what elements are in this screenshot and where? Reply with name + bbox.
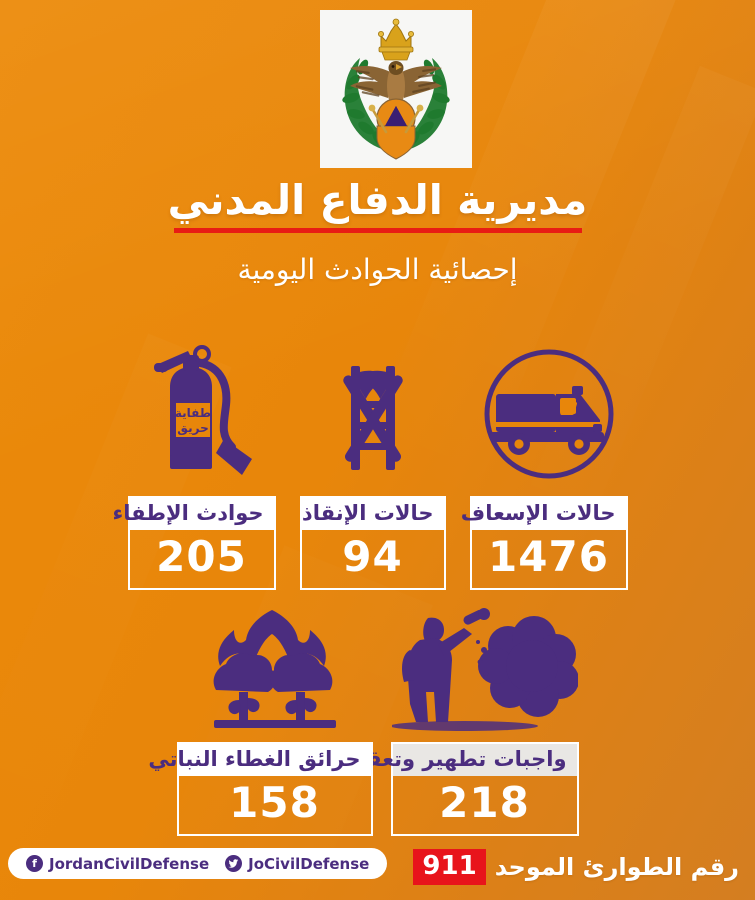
stat-label: حوادث الإطفاء [130, 498, 274, 530]
title-underline [174, 228, 582, 233]
stats-row-secondary: واجبات تطهير وتعقيم 218 [0, 608, 755, 836]
emergency-number-block: رقم الطوارئ الموحد 911 [413, 849, 739, 885]
social-link-facebook[interactable]: f JordanCivilDefense [26, 855, 209, 873]
stats-row-primary: حالات الإسعاف 1476 [0, 338, 755, 590]
jordan-civil-defense-emblem-icon [326, 14, 466, 164]
stat-cell-vegetation: حرائق الغطاء النباتي 158 [177, 608, 373, 836]
facebook-icon: f [26, 855, 43, 872]
stat-box: حوادث الإطفاء 205 [128, 496, 276, 590]
social-links-pill: f JordanCivilDefense JoCivilDefense [8, 848, 387, 879]
facebook-handle: JordanCivilDefense [49, 855, 209, 873]
stat-value: 205 [130, 530, 274, 588]
stat-label: واجبات تطهير وتعقيم [393, 744, 577, 776]
stat-value: 158 [179, 776, 371, 834]
stat-cell-ambulance: حالات الإسعاف 1476 [470, 338, 628, 590]
burning-trees-icon [200, 608, 350, 734]
social-link-twitter[interactable]: JoCivilDefense [225, 855, 369, 873]
infographic-poster: مديرية الدفاع المدني إحصائية الحوادث الي… [0, 0, 755, 900]
stat-label: حالات الإسعاف [472, 498, 626, 530]
crossed-axes-ladder-icon [303, 338, 443, 488]
emergency-label: رقم الطوارئ الموحد [495, 853, 739, 881]
organization-logo-panel [320, 10, 472, 168]
stat-value: 218 [393, 776, 577, 834]
title-block: مديرية الدفاع المدني إحصائية الحوادث الي… [0, 178, 755, 286]
twitter-icon [225, 855, 242, 872]
extinguisher-label-line1: طفاية [174, 406, 210, 420]
stat-cell-disinfection: واجبات تطهير وتعقيم 218 [391, 608, 579, 836]
stat-label: حرائق الغطاء النباتي [179, 744, 371, 776]
stat-box: حالات الإسعاف 1476 [470, 496, 628, 590]
page-title: مديرية الدفاع المدني [0, 178, 755, 224]
page-subtitle: إحصائية الحوادث اليومية [0, 253, 755, 286]
extinguisher-label-line2: حريق [177, 421, 208, 435]
stat-value: 94 [302, 530, 444, 588]
stat-box: حالات الإنقاذ 94 [300, 496, 446, 590]
fire-extinguisher-icon: طفاية حريق [136, 338, 268, 488]
emergency-number: 911 [413, 849, 485, 885]
footer: f JordanCivilDefense JoCivilDefense رقم … [0, 838, 755, 900]
stat-cell-fire: طفاية حريق حوادث الإطفاء 205 [128, 338, 276, 590]
disinfection-worker-icon [392, 608, 578, 734]
stat-cell-rescue: حالات الإنقاذ 94 [300, 338, 446, 590]
ambulance-icon [476, 338, 622, 488]
stat-box: واجبات تطهير وتعقيم 218 [391, 742, 579, 836]
stat-box: حرائق الغطاء النباتي 158 [177, 742, 373, 836]
stat-label: حالات الإنقاذ [302, 498, 444, 530]
stat-value: 1476 [472, 530, 626, 588]
twitter-handle: JoCivilDefense [248, 855, 369, 873]
